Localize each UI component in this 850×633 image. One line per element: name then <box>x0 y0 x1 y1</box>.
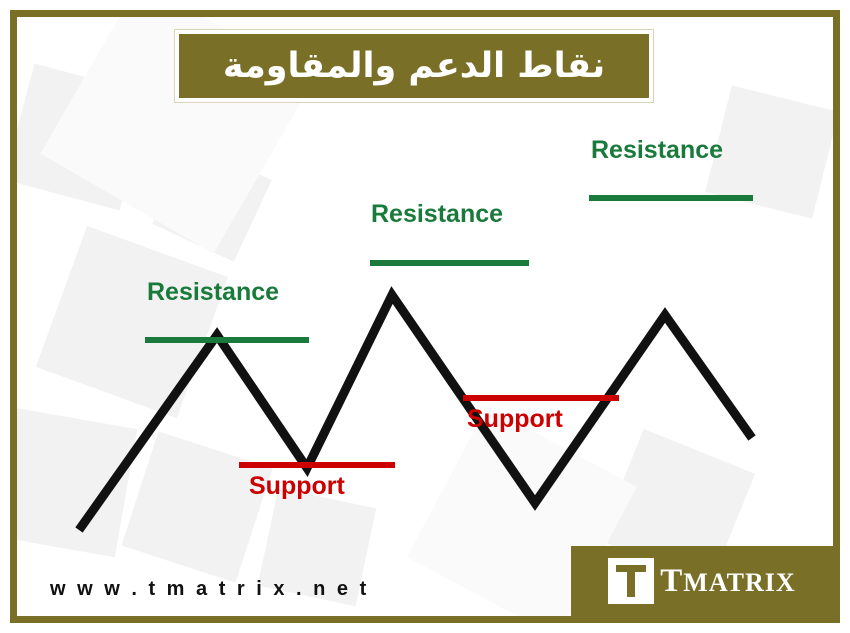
support-resistance-chart: Resistance Support Resistance Support Re… <box>17 110 833 570</box>
page-title-text: نقاط الدعم والمقاومة <box>223 46 605 86</box>
price-line <box>79 295 752 530</box>
resistance-label-1: Resistance <box>147 278 279 307</box>
website-url: w w w . t m a t r i x . n e t <box>50 578 369 601</box>
support-label-2: Support <box>467 405 563 434</box>
brand-wordmark-rest: MATRIX <box>683 568 795 597</box>
support-label-1: Support <box>249 472 345 501</box>
brand-wordmark: TMATRIX <box>660 563 795 600</box>
poster-canvas: نقاط الدعم والمقاومة Resistance Support … <box>0 0 850 633</box>
brand-logo: TMATRIX <box>571 546 833 616</box>
brand-wordmark-t: T <box>660 563 683 599</box>
resistance-label-2: Resistance <box>371 200 503 229</box>
resistance-label-3: Resistance <box>591 136 723 165</box>
t-letter-icon <box>608 558 654 604</box>
page-title: نقاط الدعم والمقاومة <box>175 30 653 102</box>
